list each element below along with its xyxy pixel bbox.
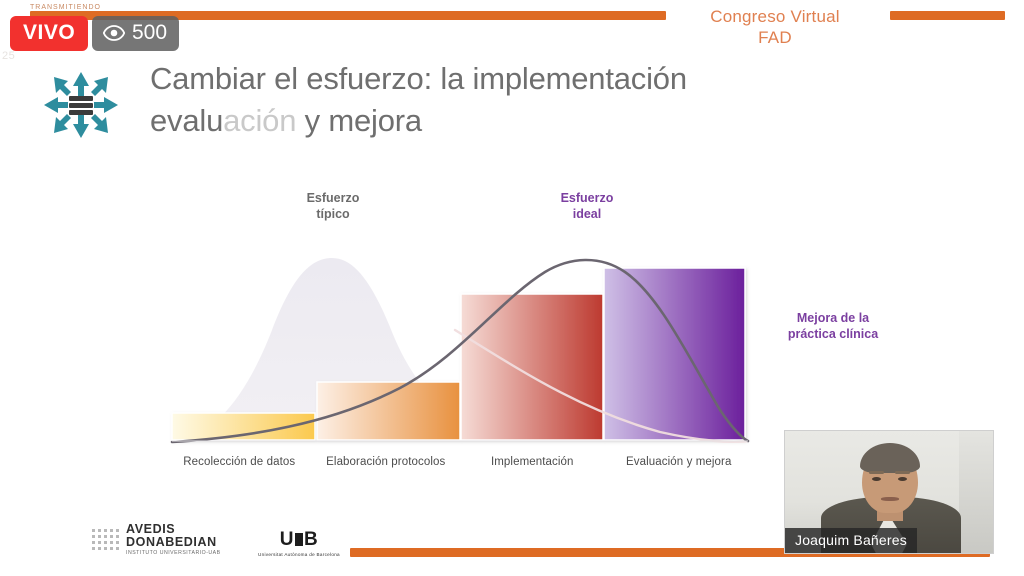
logo-uab-mark-b: B [304,529,318,550]
logo-avedis-line3: INSTITUTO UNIVERSITARIO-UAB [126,551,221,556]
annotation-esfuerzo-ideal: Esfuerzo ideal [532,191,642,222]
annotation-mejora-line1: Mejora de la [768,311,898,327]
logo-uab-mark: UB [258,530,340,549]
bar-implementacion [461,294,603,440]
eye-icon [103,25,125,41]
annotation-mejora-line2: práctica clínica [768,327,898,343]
logo-avedis-line2: DONABEDIAN [126,536,221,549]
logo-avedis-text: AVEDIS DONABEDIAN INSTITUTO UNIVERSITARI… [126,523,221,557]
webcam-speaker-eye-right [898,477,907,481]
webcam-speaker-name: Joaquim Bañeres [785,528,917,553]
annotation-mejora-practica-clinica: Mejora de la práctica clínica [768,311,898,342]
webcam-speaker-mouth [881,497,899,501]
annotation-esfuerzo-ideal-line1: Esfuerzo [532,191,642,207]
dot-grid-icon [92,529,119,550]
logo-uab: UB Universitat Autònoma de Barcelona [258,530,340,557]
live-badge[interactable]: VIVO [10,16,88,51]
logo-uab-mark-a: U [280,529,294,550]
annotation-esfuerzo-ideal-line2: ideal [532,207,642,223]
webcam-wall-right [959,431,993,553]
bar-group [172,268,745,440]
viewer-count-value: 500 [132,21,167,45]
logo-uab-mark-bar [295,533,303,546]
webcam-speaker-eye-left [872,477,881,481]
chart-category-axis: Recolección de datos Elaboración protoco… [166,456,752,468]
category-label-evaluacion: Evaluación y mejora [606,456,753,468]
logo-uab-subtitle: Universitat Autònoma de Barcelona [258,552,340,557]
annotation-esfuerzo-tipico-line2: típico [278,207,388,223]
viewer-count-badge[interactable]: 500 [92,16,179,51]
stream-status-ghost-text: TRANSMITIENDO [30,4,101,11]
webcam-pip[interactable]: Joaquim Bañeres [784,430,994,554]
logo-avedis-donabedian: AVEDIS DONABEDIAN INSTITUTO UNIVERSITARI… [92,523,221,557]
bar-elaboracion-protocolos [317,382,460,440]
category-label-elaboracion: Elaboración protocolos [313,456,460,468]
annotation-esfuerzo-tipico-line1: Esfuerzo [278,191,388,207]
webcam-speaker-brow-left [869,471,884,474]
category-label-recoleccion: Recolección de datos [166,456,313,468]
category-label-implementacion: Implementación [459,456,606,468]
annotation-esfuerzo-tipico: Esfuerzo típico [278,191,388,222]
webcam-speaker-brow-right [895,471,910,474]
